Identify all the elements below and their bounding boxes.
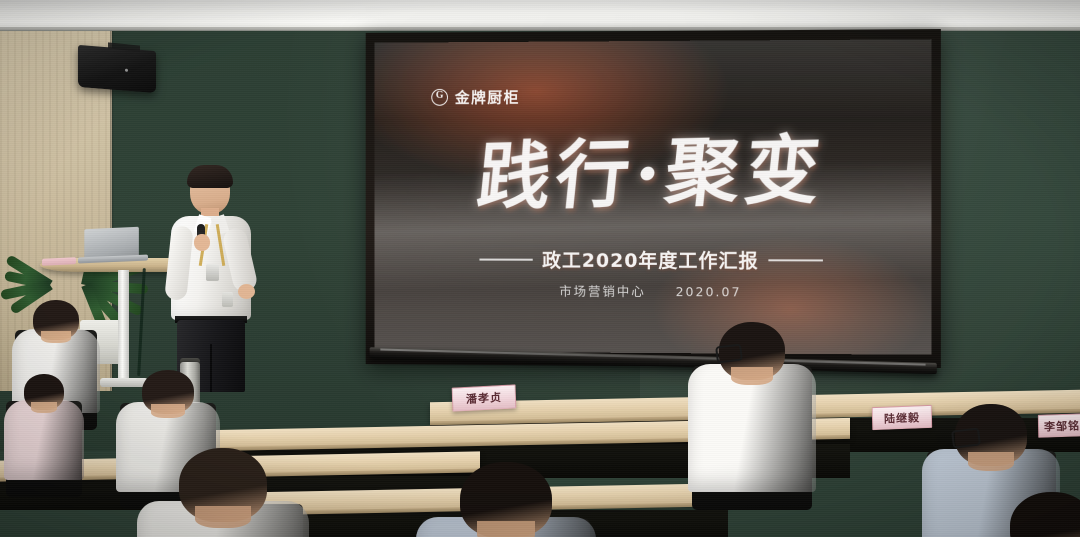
attendee-neck (968, 452, 1014, 471)
name-placard: 潘孝贞 (452, 384, 517, 411)
presenter (166, 168, 258, 388)
ceiling (0, 0, 1080, 30)
rule-left (479, 258, 532, 260)
slide-meta-date: 2020.07 (676, 284, 742, 299)
attendee-right-white (682, 322, 822, 508)
name-placard: 陆继毅 (872, 405, 932, 430)
slide-subtitle-row: 政工2020年度工作汇报 (374, 245, 931, 273)
brand-g-icon: G (431, 89, 448, 106)
presenter-id-badge-lower (222, 292, 233, 307)
speaker-led (125, 69, 128, 72)
attendee-front-left (130, 448, 316, 537)
attendee-neck (31, 402, 57, 413)
presenter-id-badge (206, 264, 219, 281)
glasses-icon (951, 427, 981, 448)
slide-meta: 市场营销中心 2020.07 (374, 280, 931, 301)
brand-name-label: 金牌厨柜 (455, 87, 520, 108)
attendee-neck (151, 404, 184, 417)
attendee-neck (477, 521, 536, 537)
wall-speaker-icon (78, 45, 156, 93)
projection-screen: G 金牌厨柜 践行·聚变 政工2020年度工作汇报 市场营销中心 2020.07 (362, 31, 938, 366)
attendee-front-center (408, 462, 604, 537)
slide-meta-department: 市场营销中心 (559, 284, 646, 299)
meeting-room-photo: G 金牌厨柜 践行·聚变 政工2020年度工作汇报 市场营销中心 2020.07 (0, 0, 1080, 537)
name-placard: 李邹铭 (1038, 413, 1080, 438)
brand-logo: G 金牌厨柜 (431, 87, 520, 108)
attendee-neck (195, 506, 251, 528)
attendee-neck (41, 331, 70, 343)
rule-right (769, 259, 824, 261)
attendee-back-left-2 (0, 374, 88, 490)
presentation-slide: G 金牌厨柜 践行·聚变 政工2020年度工作汇报 市场营销中心 2020.07 (374, 39, 931, 355)
screen-surface: G 金牌厨柜 践行·聚变 政工2020年度工作汇报 市场营销中心 2020.07 (374, 39, 931, 355)
slide-title: 践行·聚变 (374, 130, 931, 216)
glasses-icon (715, 344, 743, 364)
presenter-hair (187, 165, 233, 188)
presenter-hand-right (238, 284, 255, 299)
slide-subtitle: 政工2020年度工作汇报 (542, 246, 759, 274)
attendee-head (1010, 492, 1080, 537)
presenter-hand-left (194, 234, 210, 251)
attendee-front-right (962, 492, 1080, 537)
podium-leg (118, 270, 129, 380)
attendee-neck (731, 367, 773, 384)
